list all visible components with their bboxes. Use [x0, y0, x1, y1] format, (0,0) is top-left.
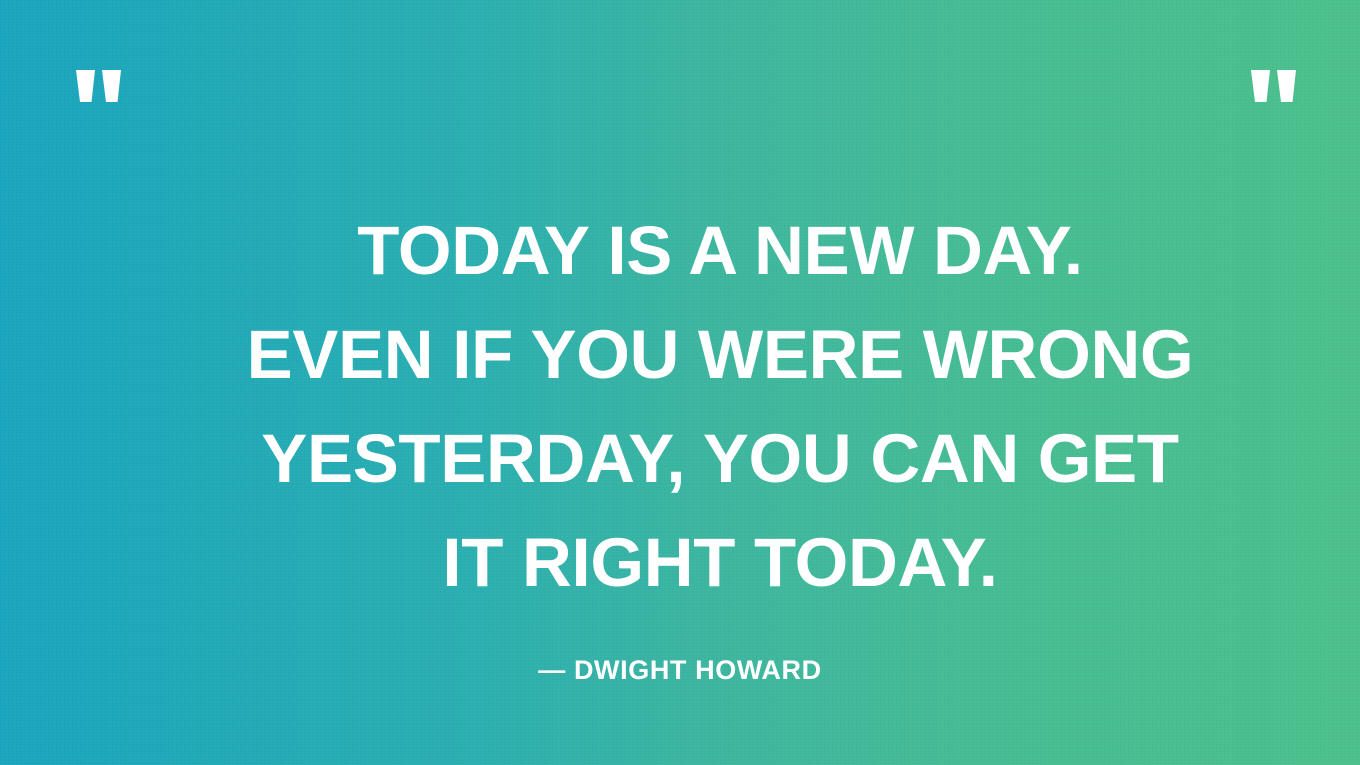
quote-line: EVEN IF YOU WERE WRONG	[40, 303, 1360, 407]
quote-card: TODAY IS A NEW DAY. EVEN IF YOU WERE WRO…	[0, 0, 1360, 765]
quote-line: IT RIGHT TODAY.	[40, 511, 1360, 615]
double-quote-icon	[1251, 70, 1297, 102]
double-quote-icon	[76, 70, 122, 102]
quote-attribution: — DWIGHT HOWARD	[0, 653, 1360, 687]
quote-line: YESTERDAY, YOU CAN GET	[40, 407, 1360, 511]
quote-text: TODAY IS A NEW DAY. EVEN IF YOU WERE WRO…	[40, 199, 1360, 615]
quote-line: TODAY IS A NEW DAY.	[40, 199, 1360, 303]
